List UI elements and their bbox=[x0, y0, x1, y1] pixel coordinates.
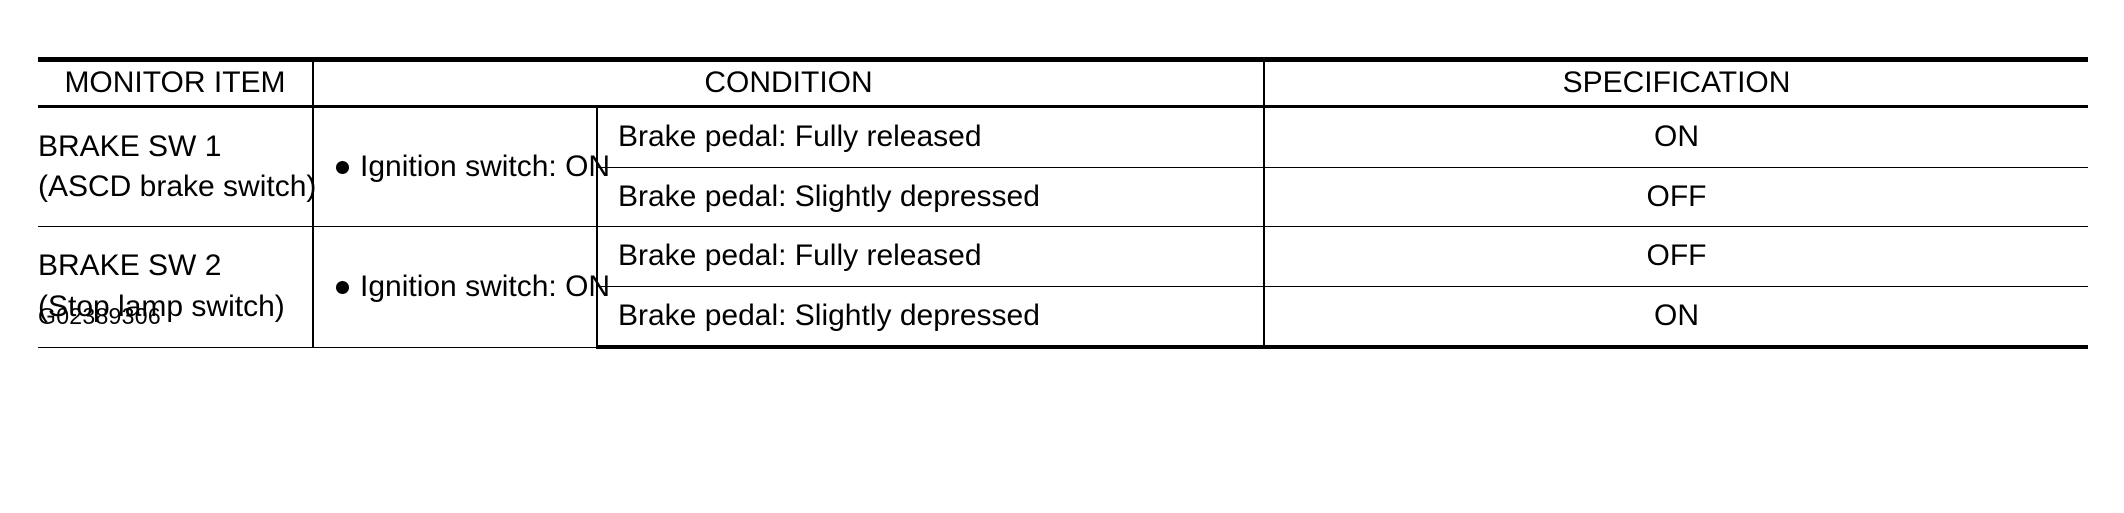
specification-value: OFF bbox=[1265, 168, 2088, 227]
specification-cell: ON bbox=[1264, 107, 2088, 168]
specification-value: ON bbox=[1265, 108, 2088, 167]
specification-cell: OFF bbox=[1264, 227, 2088, 287]
table-header: MONITOR ITEM CONDITION SPECIFICATION bbox=[38, 60, 2088, 107]
condition-main-cell-brake-sw-2: Ignition switch: ON bbox=[313, 227, 597, 348]
table-row: BRAKE SW 2 (Stop lamp switch) Ignition s… bbox=[38, 227, 2088, 287]
condition-sub-text: Brake pedal: Fully released bbox=[598, 227, 1263, 286]
monitor-item-subname: (ASCD brake switch) bbox=[38, 169, 312, 206]
monitor-item-name: BRAKE SW 2 bbox=[38, 248, 312, 285]
bullet-icon bbox=[336, 161, 349, 174]
column-header-monitor-item: MONITOR ITEM bbox=[38, 60, 313, 107]
condition-main-text: Ignition switch: ON bbox=[360, 149, 610, 186]
condition-bullet-line: Ignition switch: ON bbox=[314, 149, 596, 186]
condition-sub-cell: Brake pedal: Slightly depressed bbox=[597, 167, 1264, 227]
table-row: BRAKE SW 1 (ASCD brake switch) Ignition … bbox=[38, 107, 2088, 168]
service-manual-page: MONITOR ITEM CONDITION SPECIFICATION BRA… bbox=[0, 0, 2124, 513]
condition-sub-cell: Brake pedal: Fully released bbox=[597, 107, 1264, 168]
condition-sub-text: Brake pedal: Fully released bbox=[598, 108, 1263, 167]
header-row: MONITOR ITEM CONDITION SPECIFICATION bbox=[38, 60, 2088, 107]
condition-main-cell-brake-sw-1: Ignition switch: ON bbox=[313, 107, 597, 227]
specification-value: ON bbox=[1265, 287, 2088, 346]
figure-id-label: G02389306 bbox=[38, 303, 161, 330]
column-header-condition: CONDITION bbox=[313, 60, 1264, 107]
bullet-icon bbox=[336, 281, 349, 294]
specification-cell: ON bbox=[1264, 286, 2088, 347]
condition-bullet-line: Ignition switch: ON bbox=[314, 269, 596, 306]
condition-sub-text: Brake pedal: Slightly depressed bbox=[598, 287, 1263, 346]
specification-cell: OFF bbox=[1264, 167, 2088, 227]
specification-value: OFF bbox=[1265, 227, 2088, 286]
condition-sub-cell: Brake pedal: Fully released bbox=[597, 227, 1264, 287]
monitor-item-cell-brake-sw-1: BRAKE SW 1 (ASCD brake switch) bbox=[38, 107, 313, 227]
column-header-specification: SPECIFICATION bbox=[1264, 60, 2088, 107]
condition-main-text: Ignition switch: ON bbox=[360, 269, 610, 306]
condition-sub-cell: Brake pedal: Slightly depressed bbox=[597, 286, 1264, 347]
monitor-item-specification-table: MONITOR ITEM CONDITION SPECIFICATION BRA… bbox=[38, 57, 2088, 349]
monitor-item-name: BRAKE SW 1 bbox=[38, 129, 312, 166]
table-body: BRAKE SW 1 (ASCD brake switch) Ignition … bbox=[38, 107, 2088, 348]
condition-sub-text: Brake pedal: Slightly depressed bbox=[598, 168, 1263, 227]
